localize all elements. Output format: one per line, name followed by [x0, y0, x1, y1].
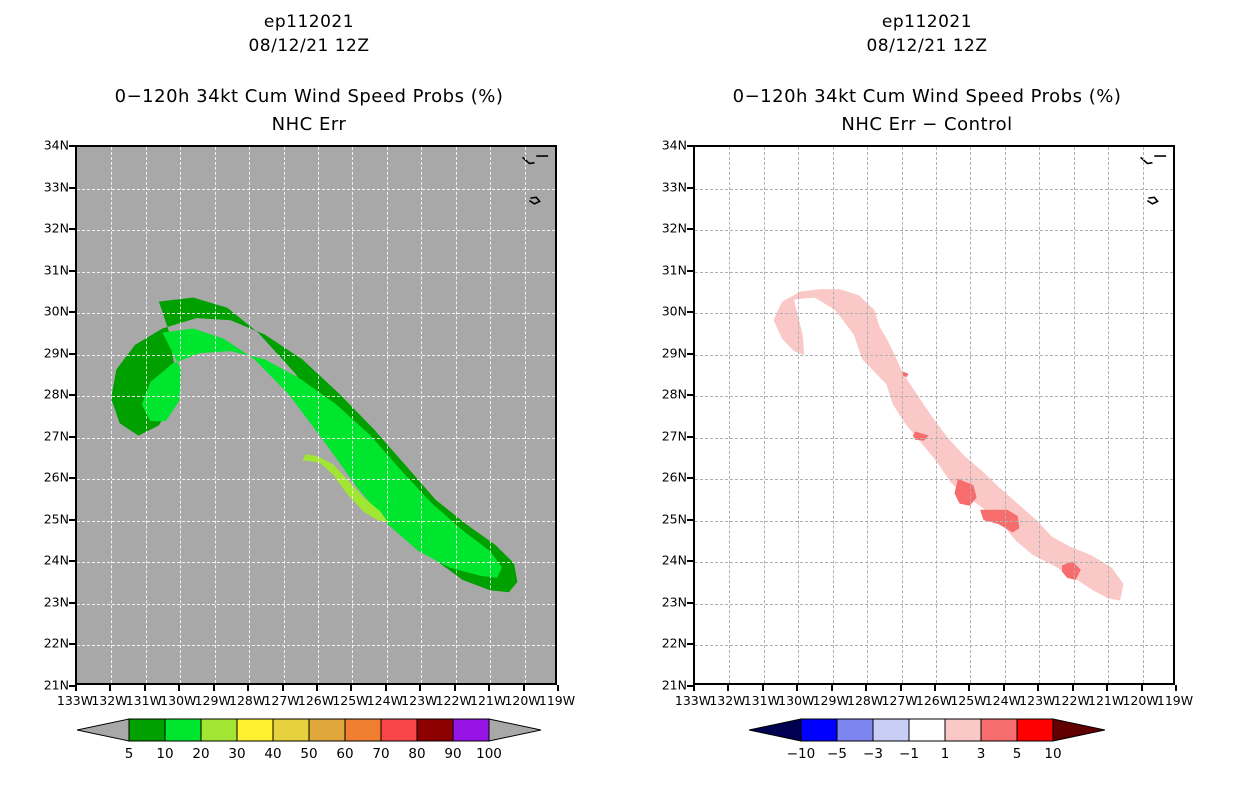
gridline-horizontal [695, 313, 1173, 314]
y-axis-tick-label: 31N [618, 262, 687, 277]
colorbar-tick-label: 10 [156, 746, 173, 762]
colorbar-under-arrow [749, 719, 801, 741]
y-axis-tick-label: 24N [0, 553, 69, 568]
colorbar-tick-label: −10 [787, 746, 816, 762]
x-axis-tick-label: 130W [778, 693, 814, 708]
colorbar-tick-label: 40 [264, 746, 281, 762]
y-axis-tick-label: 31N [0, 262, 69, 277]
y-axis-tick-mark [69, 602, 75, 604]
colorbar-swatch [165, 719, 201, 741]
y-axis-tick-mark [69, 145, 75, 147]
x-axis-tick-mark [488, 685, 490, 691]
y-axis-tick-mark [687, 436, 693, 438]
x-axis-tick-label: 127W [263, 693, 299, 708]
x-axis-tick-label: 122W [1054, 693, 1090, 708]
gridline-horizontal [695, 189, 1173, 190]
colorbar-swatch [453, 719, 489, 741]
gridline-vertical [902, 147, 903, 683]
colorbar-strip [77, 718, 541, 742]
x-axis-tick-label: 122W [436, 693, 472, 708]
x-axis-tick-mark [865, 685, 867, 691]
gridline-vertical [318, 147, 319, 683]
colorbar-swatch [237, 719, 273, 741]
gridline-vertical [1143, 147, 1144, 683]
colorbar-tick-label: 60 [336, 746, 353, 762]
y-axis-tick-label: 29N [0, 345, 69, 360]
gridline-horizontal [695, 645, 1173, 646]
left-chart-title: 0−120h 34kt Cum Wind Speed Probs (%) [0, 86, 618, 107]
x-axis-tick-label: 121W [1088, 693, 1124, 708]
y-axis-tick-label: 22N [0, 636, 69, 651]
y-axis-tick-mark [69, 353, 75, 355]
colorbar-tick-label: 90 [444, 746, 461, 762]
x-axis-tick-label: 132W [91, 693, 127, 708]
gridline-horizontal [695, 438, 1173, 439]
y-axis-tick-label: 29N [618, 345, 687, 360]
colorbar-tick-label: 50 [300, 746, 317, 762]
right-colorbar: −10−5−3−113510 [618, 718, 1236, 774]
x-axis-tick-label: 120W [1122, 693, 1158, 708]
gridline-horizontal [695, 396, 1173, 397]
x-axis-tick-mark [1106, 685, 1108, 691]
y-axis-tick-label: 21N [618, 678, 687, 693]
gridline-vertical [490, 147, 491, 683]
gridline-vertical [867, 147, 868, 683]
x-axis-tick-mark [968, 685, 970, 691]
contour-band [142, 328, 502, 577]
gridline-vertical [1074, 147, 1075, 683]
x-axis-tick-mark [900, 685, 902, 691]
y-axis-tick-mark [69, 519, 75, 521]
y-axis-tick-label: 22N [618, 636, 687, 651]
gridline-vertical [456, 147, 457, 683]
x-axis-tick-label: 119W [539, 693, 575, 708]
y-axis-tick-mark [687, 228, 693, 230]
gridline-vertical [798, 147, 799, 683]
contour-band [774, 289, 1124, 600]
gridline-horizontal [77, 355, 555, 356]
x-axis-tick-label: 132W [709, 693, 745, 708]
y-axis-tick-mark [687, 602, 693, 604]
colorbar-tick-label: 5 [125, 746, 134, 762]
gridline-vertical [764, 147, 765, 683]
colorbar-swatch [417, 719, 453, 741]
gridline-vertical [729, 147, 730, 683]
x-axis-tick-mark [178, 685, 180, 691]
gridline-horizontal [77, 230, 555, 231]
x-axis-tick-mark [1072, 685, 1074, 691]
right-chart-title: 0−120h 34kt Cum Wind Speed Probs (%) [618, 86, 1236, 107]
y-axis-tick-mark [687, 394, 693, 396]
colorbar-swatch [873, 719, 909, 741]
y-axis-tick-label: 30N [618, 304, 687, 319]
gridline-horizontal [695, 230, 1173, 231]
gridline-horizontal [77, 189, 555, 190]
x-axis-tick-mark [385, 685, 387, 691]
gridline-vertical [284, 147, 285, 683]
colorbar-over-arrow [1053, 719, 1105, 741]
y-axis-tick-mark [69, 270, 75, 272]
x-axis-tick-mark [693, 685, 695, 691]
gridline-vertical [180, 147, 181, 683]
y-axis-tick-mark [69, 311, 75, 313]
right-contour-field [695, 147, 1173, 683]
x-axis-tick-mark [934, 685, 936, 691]
colorbar-tick-label: 70 [372, 746, 389, 762]
y-axis-tick-mark [69, 560, 75, 562]
x-axis-tick-label: 128W [847, 693, 883, 708]
x-axis-tick-label: 123W [1019, 693, 1055, 708]
gridline-horizontal [695, 604, 1173, 605]
y-axis-tick-mark [687, 560, 693, 562]
y-axis-tick-mark [69, 187, 75, 189]
x-axis-tick-mark [75, 685, 77, 691]
colorbar-tick-label: 20 [192, 746, 209, 762]
colorbar-under-arrow [77, 719, 129, 741]
y-axis-tick-label: 24N [618, 553, 687, 568]
colorbar-swatch [945, 719, 981, 741]
y-axis-tick-mark [69, 228, 75, 230]
x-axis-tick-mark [454, 685, 456, 691]
x-axis-tick-mark [419, 685, 421, 691]
colorbar-swatch [981, 719, 1017, 741]
gridline-vertical [352, 147, 353, 683]
right-storm-id: ep112021 [618, 12, 1236, 32]
y-axis-tick-mark [69, 394, 75, 396]
x-axis-tick-mark [557, 685, 559, 691]
y-axis-tick-label: 33N [618, 179, 687, 194]
gridline-horizontal [77, 604, 555, 605]
gridline-vertical [111, 147, 112, 683]
gridline-horizontal [695, 355, 1173, 356]
x-axis-tick-label: 124W [367, 693, 403, 708]
x-axis-tick-mark [727, 685, 729, 691]
y-axis-tick-label: 34N [0, 138, 69, 153]
colorbar-swatch [1017, 719, 1053, 741]
y-axis-tick-label: 23N [618, 594, 687, 609]
x-axis-tick-mark [282, 685, 284, 691]
x-axis-tick-mark [1141, 685, 1143, 691]
x-axis-tick-label: 131W [126, 693, 162, 708]
colorbar-swatch [345, 719, 381, 741]
x-axis-tick-label: 120W [504, 693, 540, 708]
gridline-horizontal [695, 521, 1173, 522]
x-axis-tick-label: 131W [744, 693, 780, 708]
gridline-vertical [525, 147, 526, 683]
colorbar-tick-label: 30 [228, 746, 245, 762]
gridline-vertical [936, 147, 937, 683]
y-axis-tick-mark [687, 270, 693, 272]
right-chart-subtitle: NHC Err − Control [618, 114, 1236, 135]
gridline-horizontal [77, 272, 555, 273]
gridline-horizontal [77, 438, 555, 439]
colorbar-tick-label: 3 [977, 746, 986, 762]
coastline-segment [529, 197, 539, 204]
gridline-vertical [1108, 147, 1109, 683]
y-axis-tick-label: 26N [618, 470, 687, 485]
gridline-vertical [215, 147, 216, 683]
x-axis-tick-label: 126W [298, 693, 334, 708]
x-axis-tick-mark [1003, 685, 1005, 691]
gridline-horizontal [77, 562, 555, 563]
colorbar-swatch [801, 719, 837, 741]
x-axis-tick-mark [831, 685, 833, 691]
left-date: 08/12/21 12Z [0, 36, 618, 56]
left-chart-subtitle: NHC Err [0, 114, 618, 135]
x-axis-tick-label: 123W [401, 693, 437, 708]
gridline-horizontal [695, 479, 1173, 480]
gridline-horizontal [695, 272, 1173, 273]
gridline-vertical [1005, 147, 1006, 683]
colorbar-over-arrow [489, 719, 541, 741]
x-axis-tick-label: 124W [985, 693, 1021, 708]
colorbar-tick-label: −1 [899, 746, 919, 762]
x-axis-tick-label: 119W [1157, 693, 1193, 708]
y-axis-tick-label: 21N [0, 678, 69, 693]
x-axis-tick-label: 125W [950, 693, 986, 708]
colorbar-swatch [129, 719, 165, 741]
gridline-vertical [970, 147, 971, 683]
y-axis-tick-mark [687, 477, 693, 479]
x-axis-tick-label: 125W [332, 693, 368, 708]
y-axis-tick-label: 32N [0, 221, 69, 236]
colorbar-swatch [381, 719, 417, 741]
y-axis-tick-mark [69, 477, 75, 479]
x-axis-tick-label: 129W [195, 693, 231, 708]
left-plot-area [75, 145, 557, 685]
gridline-vertical [1039, 147, 1040, 683]
x-axis-tick-mark [316, 685, 318, 691]
x-axis-tick-mark [1175, 685, 1177, 691]
x-axis-tick-mark [1037, 685, 1039, 691]
y-axis-tick-label: 28N [618, 387, 687, 402]
gridline-horizontal [77, 479, 555, 480]
x-axis-tick-label: 121W [470, 693, 506, 708]
colorbar-tick-label: −5 [827, 746, 847, 762]
x-axis-tick-mark [796, 685, 798, 691]
colorbar-tick-label: 10 [1044, 746, 1061, 762]
x-axis-tick-mark [350, 685, 352, 691]
right-panel: ep112021 08/12/21 12Z 0−120h 34kt Cum Wi… [618, 0, 1236, 800]
right-date: 08/12/21 12Z [618, 36, 1236, 56]
y-axis-tick-label: 23N [0, 594, 69, 609]
colorbar-swatch [273, 719, 309, 741]
gridline-horizontal [77, 313, 555, 314]
colorbar-tick-label: −3 [863, 746, 883, 762]
y-axis-tick-label: 28N [0, 387, 69, 402]
right-plot-area [693, 145, 1175, 685]
gridline-vertical [249, 147, 250, 683]
y-axis-tick-mark [687, 311, 693, 313]
y-axis-tick-label: 33N [0, 179, 69, 194]
y-axis-tick-mark [69, 436, 75, 438]
y-axis-tick-label: 27N [0, 428, 69, 443]
gridline-horizontal [77, 396, 555, 397]
gridline-vertical [833, 147, 834, 683]
x-axis-tick-label: 129W [813, 693, 849, 708]
x-axis-tick-mark [144, 685, 146, 691]
colorbar-swatch [201, 719, 237, 741]
colorbar-swatch [909, 719, 945, 741]
y-axis-tick-label: 32N [618, 221, 687, 236]
y-axis-tick-mark [687, 145, 693, 147]
x-axis-tick-label: 128W [229, 693, 265, 708]
x-axis-tick-mark [213, 685, 215, 691]
colorbar-tick-label: 80 [408, 746, 425, 762]
left-contour-field [77, 147, 555, 683]
coastline-segment [1147, 197, 1157, 204]
x-axis-tick-mark [523, 685, 525, 691]
x-axis-tick-label: 130W [160, 693, 196, 708]
gridline-vertical [387, 147, 388, 683]
gridline-vertical [146, 147, 147, 683]
left-storm-id: ep112021 [0, 12, 618, 32]
x-axis-tick-mark [762, 685, 764, 691]
left-panel: ep112021 08/12/21 12Z 0−120h 34kt Cum Wi… [0, 0, 618, 800]
gridline-vertical [421, 147, 422, 683]
x-axis-tick-mark [247, 685, 249, 691]
x-axis-tick-label: 133W [675, 693, 711, 708]
y-axis-tick-label: 30N [0, 304, 69, 319]
colorbar-tick-label: 5 [1013, 746, 1022, 762]
y-axis-tick-label: 26N [0, 470, 69, 485]
colorbar-tick-label: 1 [941, 746, 950, 762]
y-axis-tick-mark [687, 353, 693, 355]
y-axis-tick-label: 25N [0, 511, 69, 526]
y-axis-tick-mark [687, 519, 693, 521]
y-axis-tick-mark [69, 643, 75, 645]
y-axis-tick-mark [687, 643, 693, 645]
gridline-horizontal [77, 645, 555, 646]
left-colorbar: 5102030405060708090100 [0, 718, 618, 774]
y-axis-tick-label: 27N [618, 428, 687, 443]
x-axis-tick-mark [109, 685, 111, 691]
gridline-horizontal [77, 521, 555, 522]
colorbar-swatch [309, 719, 345, 741]
colorbar-swatch [837, 719, 873, 741]
colorbar-tick-label: 100 [476, 746, 502, 762]
y-axis-tick-label: 34N [618, 138, 687, 153]
y-axis-tick-mark [687, 187, 693, 189]
colorbar-strip [749, 718, 1105, 742]
y-axis-tick-label: 25N [618, 511, 687, 526]
x-axis-tick-label: 126W [916, 693, 952, 708]
x-axis-tick-label: 127W [881, 693, 917, 708]
x-axis-tick-label: 133W [57, 693, 93, 708]
gridline-horizontal [695, 562, 1173, 563]
